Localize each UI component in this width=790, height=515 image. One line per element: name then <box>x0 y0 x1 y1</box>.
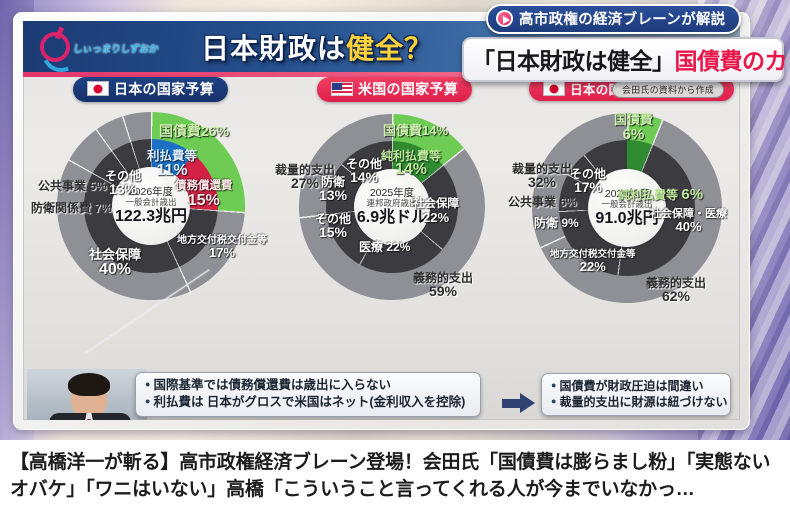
chart-japan-donut: 2026年度 一般会計歳出 122.3兆円 国債費26% 利払費等 11% 債務… <box>29 106 272 356</box>
chart-japan-title-text: 日本の国家予算 <box>114 81 214 97</box>
japan-label-sonota: その他 13% <box>105 170 141 197</box>
japan-label-shakaihoshou: 社会保障 40% <box>89 248 141 278</box>
program-title-main: 日本財政は <box>201 33 346 64</box>
video-caption: 【高橋洋一が斬る】高市政権経済ブレーン登場！会田氏「国債費は膨らまし粉」「実態な… <box>0 440 790 515</box>
play-circle-icon[interactable] <box>496 10 513 27</box>
us-label-junrihaahi: 純利払費等 14% <box>381 150 441 179</box>
us-label-gimuteki: 義務的支出 59% <box>413 272 473 299</box>
intl-label-shakaihoshou-iryou: 社会保障・医療 40% <box>650 209 727 234</box>
station-logo-text: しぃっまりしずおか <box>72 40 159 55</box>
callout-left: 国際基準では債務償還費は歳出に入らない 利払費は 日本がグロスで米国はネット(金… <box>135 372 481 417</box>
overlay-pill: 高市政権の経済ブレーンが解説 <box>486 4 741 34</box>
intl-label-koukyoujigyou: 公共事業 6% <box>508 196 577 208</box>
chart-japan-budget: 日本の国家予算 2026年度 一般会計歳出 122.3兆円 <box>29 77 272 367</box>
program-title-highlight: 健全？ <box>346 33 433 64</box>
japan-label-kokusaihi: 国債費26% <box>159 124 229 139</box>
commentator-inset <box>27 369 147 420</box>
chart-us-donut: 2025年度 連邦政府歳出 6.9兆ドル 国債費14% 純利払費等 14% 裁量… <box>273 106 516 356</box>
screenshot-root: しぃっまりしずおか 日本財政は健全？ 会田氏の資料から作成 SATV NEWS … <box>0 0 790 515</box>
chart-us-title-text: 米国の国家予算 <box>358 81 458 97</box>
source-credit: 会田氏の資料から作成 <box>612 81 724 98</box>
callout-left-line2: 利払費は 日本がグロスで米国はネット(金利収入を控除) <box>145 394 471 411</box>
japan-label-bouei: 防衛関係費 7% <box>31 202 112 214</box>
us-label-sonota-inner: その他 15% <box>315 213 351 240</box>
japan-label-chihoukoufu: 地方交付税交付金等 17% <box>177 236 267 260</box>
chart-japan-intl-donut: 2026年度 一般会計歳出 91.0兆円 国債費 6% 純利払費等 6% 裁量的… <box>508 105 740 355</box>
flag-us-icon <box>331 82 353 96</box>
japan-center-value: 122.3兆円 <box>115 208 187 226</box>
overlay-headline-black: 「日本財政は健全」 <box>472 48 675 74</box>
intl-label-sairyouteki: 裁量的支出 32% <box>512 163 572 190</box>
station-logo: しぃっまりしずおか <box>33 27 165 67</box>
overlay-headline-red: 国債費のカラクリ <box>675 48 790 74</box>
us-label-iryou: 医療 22% <box>359 241 410 253</box>
us-label-shakaihoshou: 社会保障 22% <box>413 199 459 224</box>
japan-label-koukyoujigyou: 公共事業 5% <box>38 180 107 192</box>
conclusion-arrow-icon <box>502 393 536 413</box>
callout-right-line1: 国債費が財政圧迫は間違い <box>551 378 721 394</box>
chart-japan-intl-budget: 日本の国家予算(国際基準) 2026年度 一般会計歳出 91.0兆円 国債費 6… <box>508 77 740 367</box>
bottom-summary-band: 国際基準では債務償還費は歳出に入らない 利払費は 日本がグロスで米国はネット(金… <box>23 367 740 420</box>
callout-left-line1: 国際基準では債務償還費は歳出に入らない <box>145 377 471 394</box>
us-label-sonota-outer: その他 14% <box>346 158 382 185</box>
flag-jp-icon <box>543 81 565 96</box>
japan-center-desc: 一般会計歳出 <box>125 198 176 208</box>
japan-label-riharaihi: 利払費等 11% <box>147 150 197 180</box>
us-center-desc: 連邦政府歳出 <box>366 199 417 209</box>
program-title: 日本財政は健全？ <box>201 27 433 67</box>
video-title-overlay: 高市政権の経済ブレーンが解説 「日本財政は健全」国債費のカラクリ <box>462 4 784 82</box>
chart-us-budget: 米国の国家予算 2025年度 連邦政府歳出 6.9兆ドル 国債費14% <box>273 77 516 367</box>
intl-label-bouei: 防衛 9% <box>534 217 579 229</box>
intl-label-gimuteki: 義務的支出 62% <box>646 277 706 304</box>
charts-row: 日本の国家予算 2026年度 一般会計歳出 122.3兆円 <box>23 77 740 367</box>
callout-right: 国債費が財政圧迫は間違い 裁量的支出に財源は紐づけない <box>541 373 731 416</box>
intl-label-sonota: その他 17% <box>570 168 606 195</box>
us-label-kokusaihi: 国債費14% <box>383 124 448 138</box>
intl-label-junrihaahi: 純利払費等 6% <box>618 187 703 203</box>
commentator-hair <box>68 373 110 396</box>
video-caption-text: 【高橋洋一が斬る】高市政権経済ブレーン登場！会田氏「国債費は膨らまし粉」「実態な… <box>10 450 780 504</box>
overlay-pill-label: 高市政権の経済ブレーンが解説 <box>519 8 725 29</box>
us-label-bouei: 防衛 13% <box>319 176 347 203</box>
overlay-headline: 「日本財政は健全」国債費のカラクリ <box>462 37 784 82</box>
flag-jp-icon <box>87 81 109 96</box>
callout-right-line2: 裁量的支出に財源は紐づけない <box>551 394 721 410</box>
intl-label-kokusaihi: 国債費 6% <box>614 113 653 142</box>
chart-japan-title: 日本の国家予算 <box>73 77 228 102</box>
japan-label-saimushokan: 債務償還費 15% <box>175 181 233 210</box>
chart-us-title: 米国の国家予算 <box>317 77 472 102</box>
station-logo-mark-icon <box>40 32 70 62</box>
intl-label-chihoukoufu: 地方交付税交付金等 22% <box>550 250 636 273</box>
